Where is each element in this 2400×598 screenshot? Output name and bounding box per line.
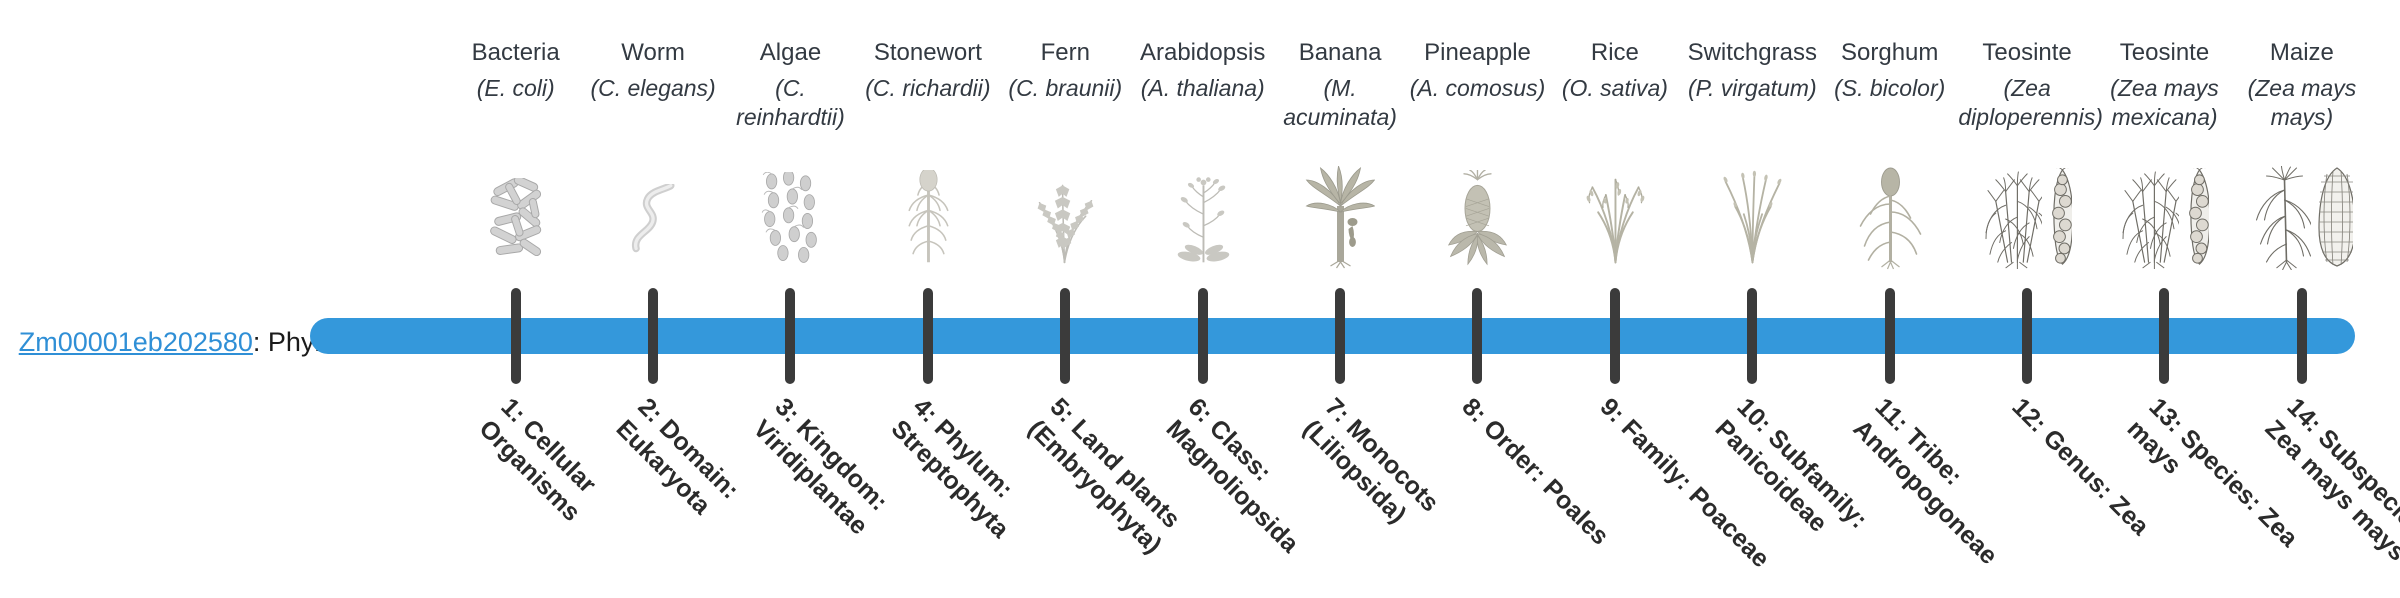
phylostratum-tick [1472,288,1482,384]
phylostratum-tick [1060,288,1070,384]
species-column: Rice(O. sativa)9: Family: Poaceae [1546,0,1683,580]
species-scientific-name: (C. elegans) [584,74,721,103]
species-common-name: Teosinte [1958,38,2095,68]
species-common-name: Arabidopsis [1134,38,1271,68]
species-column: Maize(Zea mays mays)14: Subspecies: Zea … [2233,0,2370,580]
species-column: Stonewort(C. richardii)4: Phylum: Strept… [859,0,996,580]
species-column: Switchgrass(P. virgatum)10: Subfamily: P… [1684,0,1821,580]
species-common-name: Banana [1271,38,1408,68]
organism-illustration [1546,160,1683,270]
arabidopsis-icon [1172,170,1234,270]
organism-illustration [859,160,996,270]
maize-icon [2315,166,2353,270]
species-common-name: Switchgrass [1684,38,1821,68]
fern-icon [1031,170,1099,270]
phylostratum-tick [1885,288,1895,384]
species-common-name: Bacteria [447,38,584,68]
species-common-name: Teosinte [2096,38,2233,68]
pineapple-icon [1446,170,1508,270]
species-common-name: Pineapple [1409,38,1546,68]
organism-illustration [1821,160,1958,270]
switchgrass-icon [1719,170,1785,270]
species-scientific-name: (Zea mays mays) [2233,74,2370,132]
species-column: Teosinte(Zea diploperennis)12: Genus: Ze… [1958,0,2095,580]
species-columns: Bacteria(E. coli)1: Cellular OrganismsWo… [447,0,2370,580]
phylostratum-tick [785,288,795,384]
worm-icon [625,184,681,270]
organism-illustration [447,160,584,270]
phylostratum-tick [923,288,933,384]
organism-illustration [584,160,721,270]
banana-icon [1305,166,1375,270]
maize-icon [2251,166,2311,270]
species-column: Banana(M. acuminata)7: Monocots (Liliops… [1271,0,1408,580]
species-common-name: Stonewort [859,38,996,68]
species-column: Bacteria(E. coli)1: Cellular Organisms [447,0,584,580]
bacteria-icon [484,178,548,270]
species-scientific-name: (P. virgatum) [1684,74,1821,103]
organism-illustration [2233,160,2370,270]
phylostratum-tick [1198,288,1208,384]
organism-illustration [1684,160,1821,270]
teosinte-icon [1982,168,2042,270]
stonewort-icon [897,170,959,270]
species-column: Teosinte(Zea mays mexicana)13: Species: … [2096,0,2233,580]
species-common-name: Fern [997,38,1134,68]
phylostratum-tick [1335,288,1345,384]
species-common-name: Worm [584,38,721,68]
stratum-label: 14: Subspecies: Zea mays mays [2258,392,2400,598]
organism-illustration [997,160,1134,270]
species-common-name: Algae [722,38,859,68]
algae-icon [759,172,821,270]
teosinte-icon [2183,168,2209,270]
organism-illustration [1409,160,1546,270]
species-scientific-name: (O. sativa) [1546,74,1683,103]
phylostratum-tick [1747,288,1757,384]
species-scientific-name: (E. coli) [447,74,584,103]
species-scientific-name: (Zea diploperennis) [1958,74,2095,132]
species-scientific-name: (C. richardii) [859,74,996,103]
species-column: Worm(C. elegans)2: Domain: Eukaryota [584,0,721,580]
teosinte-icon [2119,168,2179,270]
species-common-name: Maize [2233,38,2370,68]
species-column: Fern(C. braunii)5: Land plants (Embryoph… [997,0,1134,580]
phylostratigraphy-figure: Zm00001eb202580: Phylostratum 1 Bacteria… [0,0,2400,580]
phylostratum-tick [648,288,658,384]
sorghum-icon [1857,166,1923,270]
species-scientific-name: (A. thaliana) [1134,74,1271,103]
species-common-name: Rice [1546,38,1683,68]
gene-accession-link[interactable]: Zm00001eb202580 [19,327,253,357]
phylostratum-tick [2159,288,2169,384]
organism-illustration [1271,160,1408,270]
organism-illustration [722,160,859,270]
species-scientific-name: (M. acuminata) [1271,74,1408,132]
phylostratum-tick [1610,288,1620,384]
species-scientific-name: (A. comosus) [1409,74,1546,103]
organism-illustration [1958,160,2095,270]
phylostratum-tick [2022,288,2032,384]
species-column: Sorghum(S. bicolor)11: Tribe: Andropogon… [1821,0,1958,580]
phylostratum-tick [511,288,521,384]
species-scientific-name: (S. bicolor) [1821,74,1958,103]
rice-icon [1584,170,1646,270]
species-column: Arabidopsis(A. thaliana)6: Class: Magnol… [1134,0,1271,580]
organism-illustration [1134,160,1271,270]
species-scientific-name: (C. reinhardtii) [722,74,859,132]
organism-illustration [2096,160,2233,270]
species-scientific-name: (Zea mays mexicana) [2096,74,2233,132]
species-column: Algae(C. reinhardtii)3: Kingdom: Viridip… [722,0,859,580]
teosinte-icon [2046,168,2072,270]
species-scientific-name: (C. braunii) [997,74,1134,103]
species-column: Pineapple(A. comosus)8: Order: Poales [1409,0,1546,580]
phylostratum-tick [2297,288,2307,384]
species-common-name: Sorghum [1821,38,1958,68]
